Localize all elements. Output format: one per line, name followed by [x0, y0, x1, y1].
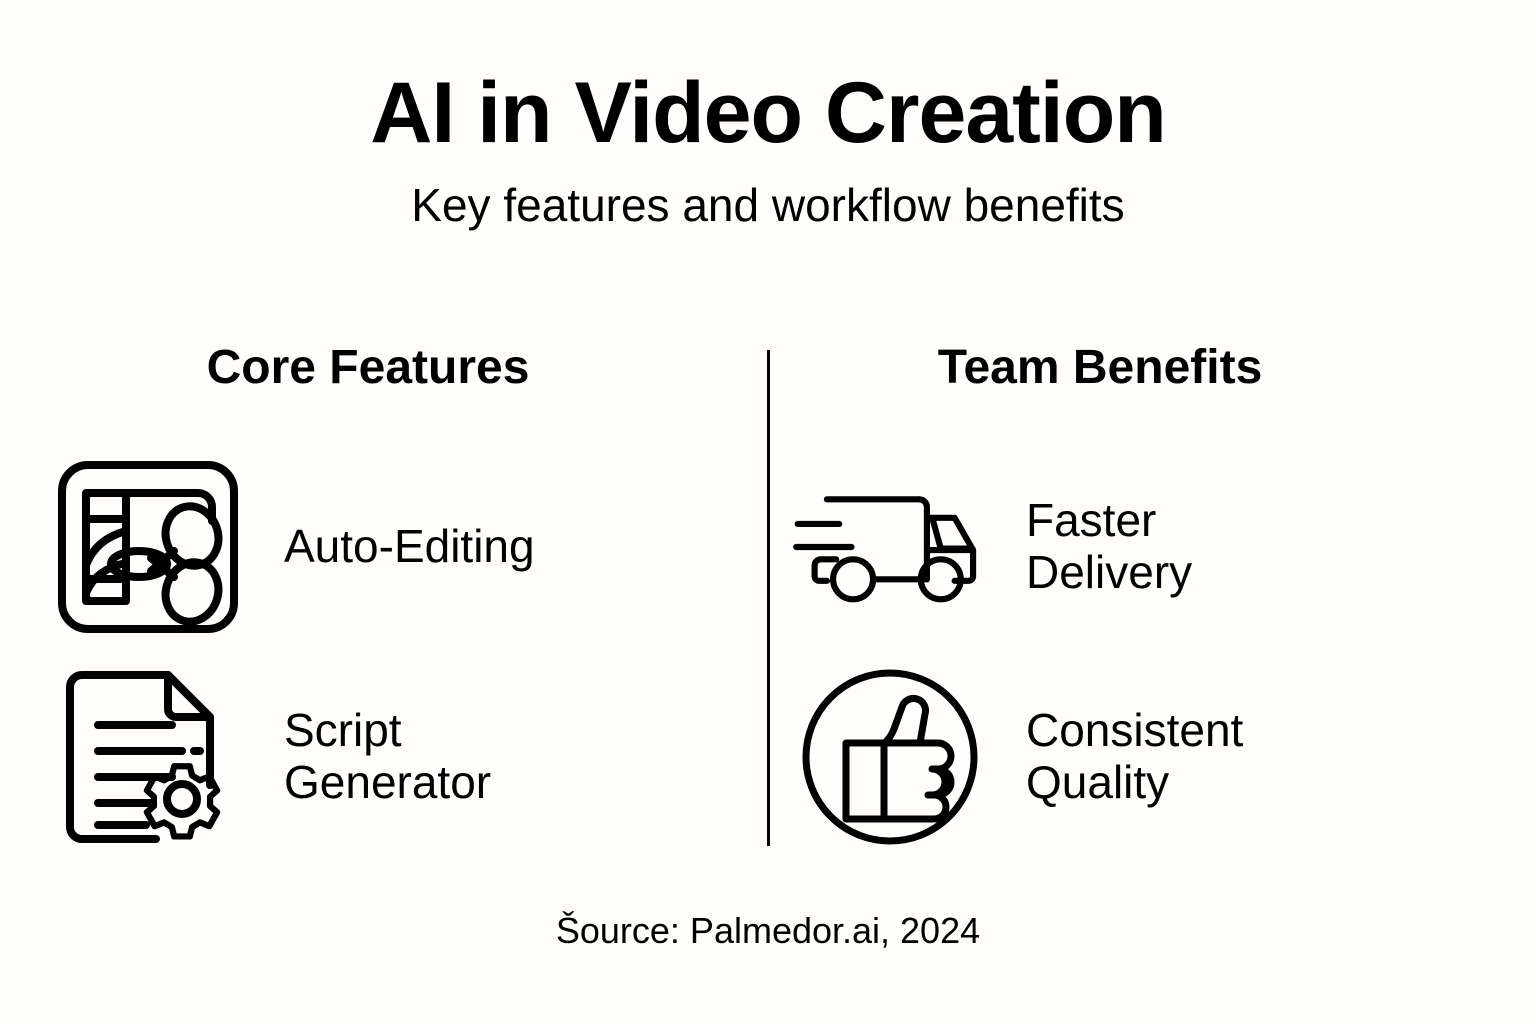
film-scissors-icon — [48, 454, 248, 640]
footer: Šource: Palmedor.ai, 2024 — [0, 910, 1536, 952]
column-divider — [767, 350, 770, 846]
list-item-auto-editing: Auto-Editing — [48, 454, 748, 640]
document-gear-icon — [48, 664, 248, 850]
column-heading-core-features: Core Features — [58, 344, 678, 392]
page-subtitle: Key features and workflow benefits — [0, 180, 1536, 231]
header: AI in Video Creation Key features and wo… — [0, 70, 1536, 230]
list-item-consistent-quality: Consistent Quality — [790, 664, 1490, 850]
list-item-label: Faster Delivery — [990, 495, 1192, 599]
team-benefits-list: Faster Delivery — [790, 454, 1490, 850]
page-title: AI in Video Creation — [0, 70, 1536, 158]
columns-section: Core Features — [0, 344, 1536, 854]
column-heading-team-benefits: Team Benefits — [790, 344, 1410, 392]
list-item-label: Consistent Quality — [990, 705, 1243, 809]
list-item-label: Script Generator — [248, 705, 491, 809]
source-citation: Šource: Palmedor.ai, 2024 — [0, 910, 1536, 952]
list-item-script-generator: Script Generator — [48, 664, 748, 850]
core-features-list: Auto-Editing — [48, 454, 748, 850]
infographic-poster: AI in Video Creation Key features and wo… — [0, 0, 1536, 1024]
list-item-faster-delivery: Faster Delivery — [790, 454, 1490, 640]
column-core-features: Core Features — [48, 344, 748, 850]
thumbs-up-circle-icon — [790, 664, 990, 850]
delivery-truck-icon — [790, 454, 990, 640]
list-item-label: Auto-Editing — [248, 521, 535, 573]
column-team-benefits: Team Benefits — [790, 344, 1490, 850]
